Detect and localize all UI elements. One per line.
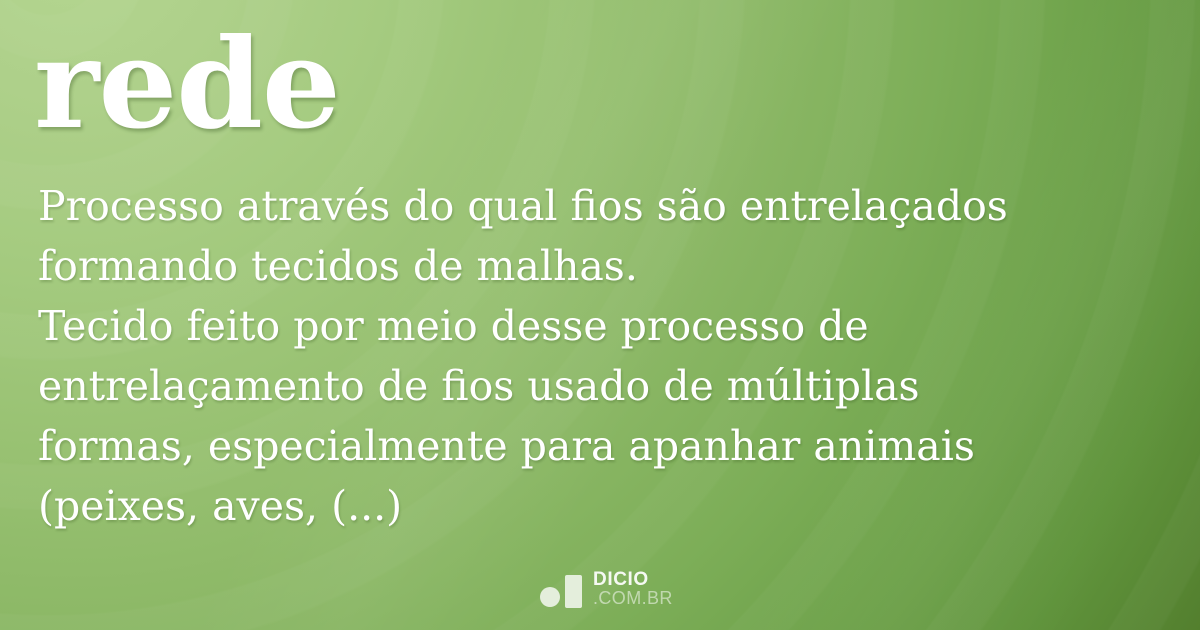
definition-line: (peixes, aves, (...)	[38, 476, 1168, 536]
card-content: rede Processo através do qual fios são e…	[0, 0, 1200, 630]
definition-text-block: Processo através do qual fios são entrel…	[38, 176, 1168, 536]
definition-line: Processo através do qual fios são entrel…	[38, 176, 1168, 236]
logo-brand-name: DICIO	[593, 570, 673, 589]
logo-bar-icon	[565, 575, 582, 608]
dictionary-definition-card: rede Processo através do qual fios são e…	[0, 0, 1200, 630]
definition-line: formas, especialmente para apanhar anima…	[38, 416, 1168, 476]
logo-wordmark: DICIO .COM.BR	[593, 571, 673, 608]
logo-domain-suffix: .COM.BR	[593, 589, 673, 607]
headword-title: rede	[34, 23, 340, 147]
logo-mark-icon	[540, 574, 582, 608]
dicio-logo: DICIO .COM.BR	[540, 570, 673, 608]
definition-line: Tecido feito por meio desse processo de	[38, 296, 1168, 356]
logo-circle-icon	[540, 587, 560, 607]
definition-line: formando tecidos de malhas.	[38, 236, 1168, 296]
definition-line: entrelaçamento de fios usado de múltipla…	[38, 356, 1168, 416]
